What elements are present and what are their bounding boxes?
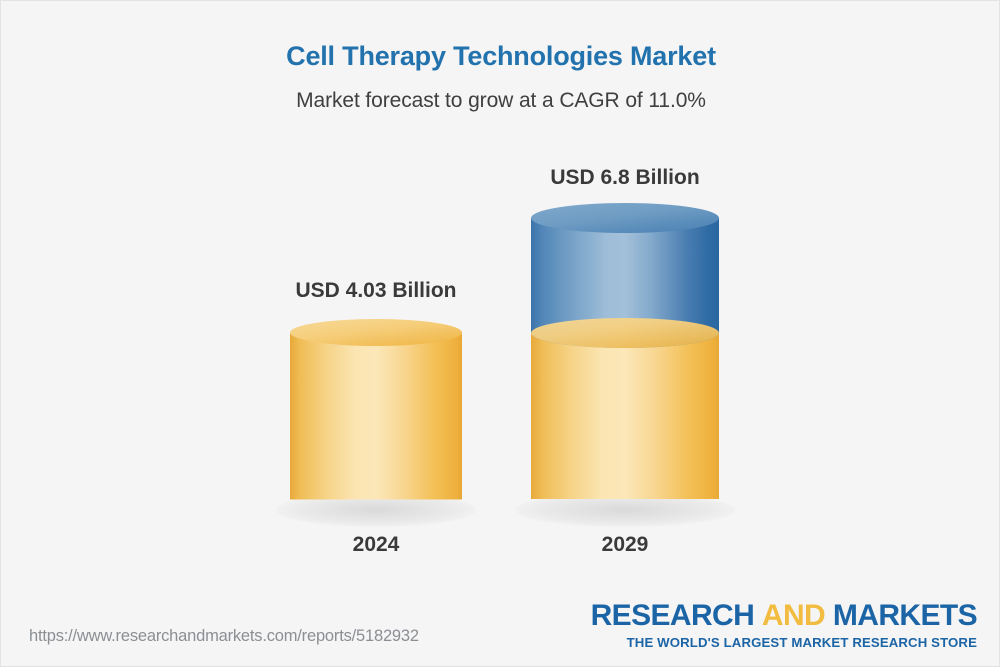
chart-subtitle: Market forecast to grow at a CAGR of 11.… <box>1 89 1000 113</box>
source-url[interactable]: https://www.researchandmarkets.com/repor… <box>29 627 419 646</box>
bar-group-2024: USD 4.03 Billion <box>290 1 462 667</box>
bar-value-label-2024: USD 4.03 Billion <box>290 279 462 303</box>
bar-group-2029: USD 6.8 Billion <box>531 1 719 667</box>
chart-title: Cell Therapy Technologies Market <box>1 41 1000 72</box>
research-and-markets-logo[interactable]: RESEARCH AND MARKETS THE WORLD'S LARGEST… <box>591 601 977 649</box>
logo-word-markets: MARKETS <box>833 599 977 632</box>
bar-cylinder-2024 <box>290 319 462 513</box>
chart-canvas: Cell Therapy Technologies Market Market … <box>0 0 1000 667</box>
bar-value-label-2029: USD 6.8 Billion <box>531 166 719 190</box>
bar-category-label-2024: 2024 <box>290 533 462 557</box>
logo-wordmark: RESEARCH AND MARKETS <box>591 601 977 631</box>
logo-word-research: RESEARCH <box>591 599 755 632</box>
bar-category-label-2029: 2029 <box>531 533 719 557</box>
logo-tagline: THE WORLD'S LARGEST MARKET RESEARCH STOR… <box>591 636 977 649</box>
bar-cylinder-2029 <box>531 203 719 513</box>
logo-word-and: AND <box>762 599 825 632</box>
